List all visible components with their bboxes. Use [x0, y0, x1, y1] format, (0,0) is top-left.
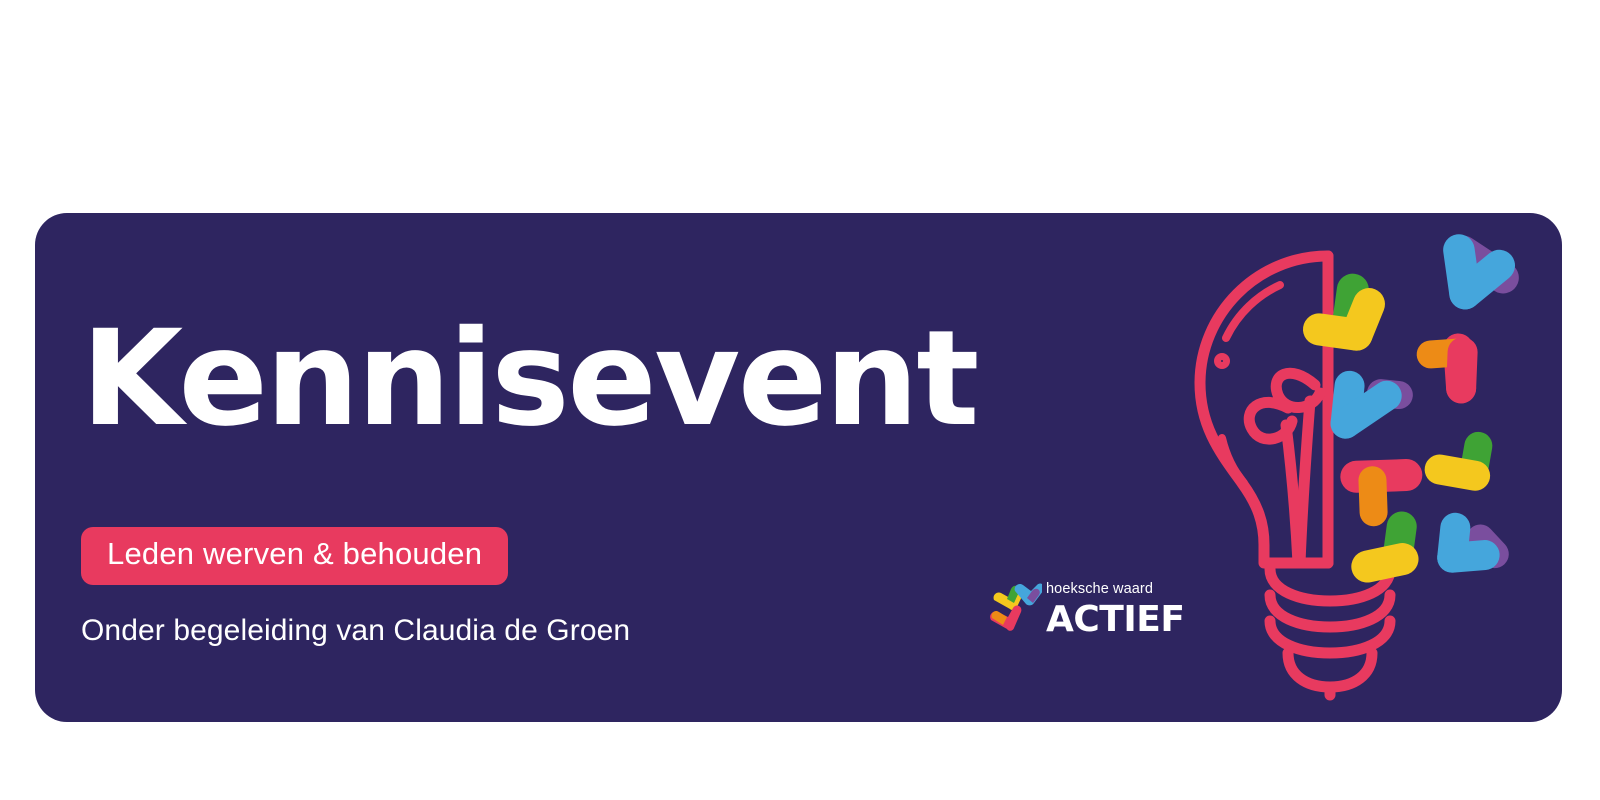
logo-wordmark-group: hoeksche waard ACTIEF	[1046, 582, 1166, 638]
page-title: Kennisevent	[81, 313, 1141, 445]
spark-right-upper	[1430, 348, 1465, 390]
lightbulb-illustration	[1160, 233, 1550, 703]
presenter-label: Onder begeleiding van Claudia de Groen	[81, 614, 1141, 648]
spark-right-mid	[1440, 440, 1481, 476]
bulb-screw-base-icon	[1270, 569, 1390, 695]
logo-tagline: hoeksche waard	[1046, 582, 1166, 597]
organisation-logo: hoeksche waard ACTIEF	[990, 582, 1165, 648]
spark-lower-right	[1452, 528, 1497, 562]
hoeksche-waard-actief-mark-icon	[990, 582, 1042, 640]
banner-text-block: Kennisevent Leden werven & behouden Onde…	[81, 313, 1141, 648]
spark-top-right	[1459, 244, 1505, 293]
spark-mid-left	[1346, 386, 1400, 429]
spark-bottom	[1361, 527, 1409, 567]
spark-lower-mid	[1356, 475, 1407, 513]
spark-group	[1319, 244, 1505, 566]
logo-wordmark: ACTIEF	[1046, 602, 1166, 638]
status-badge: Leden werven & behouden	[81, 527, 508, 585]
event-banner-card: Kennisevent Leden werven & behouden Onde…	[35, 213, 1562, 722]
